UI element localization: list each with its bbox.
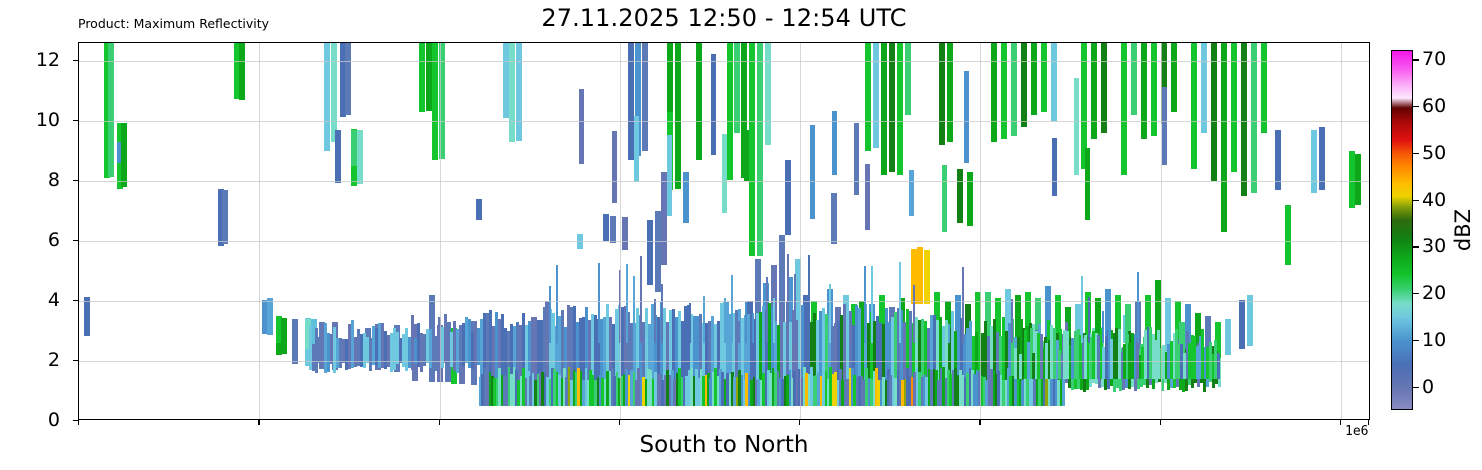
reflectivity-column [724, 298, 726, 343]
reflectivity-column [292, 319, 298, 364]
reflectivity-column [610, 216, 616, 243]
reflectivity-column [964, 71, 969, 163]
colorbar-segment [1392, 182, 1412, 197]
reflectivity-column [850, 314, 852, 343]
colorbar-segment [1392, 196, 1412, 206]
reflectivity-column [108, 43, 114, 177]
reflectivity-column [281, 318, 287, 354]
reflectivity-column [711, 54, 716, 154]
colorbar-segment [1392, 317, 1412, 341]
reflectivity-column [1311, 130, 1317, 193]
reflectivity-column [654, 299, 656, 343]
reflectivity-column [579, 89, 584, 164]
reflectivity-column [757, 43, 763, 256]
colorbar-segment [1392, 388, 1412, 410]
reflectivity-column [1031, 43, 1037, 115]
y-tick-label: 10 [36, 109, 60, 131]
reflectivity-column [612, 131, 617, 203]
colorbar-tick-mark [1413, 59, 1419, 60]
y-tick-mark [73, 360, 78, 361]
colorbar-segment [1392, 154, 1412, 169]
reflectivity-column [1141, 43, 1147, 139]
product-subtitle: Product: Maximum Reflectivity [78, 16, 269, 31]
reflectivity-column [957, 169, 963, 223]
reflectivity-column [345, 43, 351, 115]
y-tick-label: 0 [48, 409, 60, 431]
colorbar-segment [1392, 238, 1412, 257]
colorbar-gradient [1391, 50, 1413, 410]
y-tick-label: 6 [48, 229, 60, 251]
y-tick-mark [73, 120, 78, 121]
reflectivity-column [1247, 295, 1253, 346]
reflectivity-column [84, 297, 90, 336]
colorbar-segment [1392, 205, 1412, 220]
reflectivity-column [331, 43, 337, 142]
reflectivity-column [889, 43, 895, 172]
y-tick-mark [73, 420, 78, 421]
colorbar-tick-label: 40 [1422, 189, 1446, 211]
reflectivity-column [727, 43, 733, 180]
reflectivity-column [749, 43, 755, 256]
colorbar-segment [1392, 140, 1412, 155]
reflectivity-column [864, 266, 866, 343]
x-tick-mark [1340, 420, 1341, 425]
reflectivity-column [667, 135, 672, 216]
reflectivity-column [476, 199, 482, 220]
plot-area [78, 42, 1370, 420]
reflectivity-column [1102, 311, 1104, 343]
colorbar-tick-mark [1413, 387, 1419, 388]
reflectivity-column [419, 43, 425, 112]
reflectivity-column [1355, 154, 1361, 205]
reflectivity-column [934, 319, 936, 343]
reflectivity-column [1231, 43, 1237, 172]
reflectivity-column [1011, 43, 1017, 136]
reflectivity-column [1052, 138, 1057, 196]
colorbar-segment [1392, 275, 1412, 290]
reflectivity-column [1001, 43, 1007, 139]
reflectivity-column [1088, 297, 1090, 343]
y-tick-mark [73, 60, 78, 61]
reflectivity-column [439, 43, 445, 159]
x-tick-mark [799, 420, 800, 425]
reflectivity-column [854, 123, 859, 195]
reflectivity-column [752, 313, 754, 343]
reflectivity-column [696, 43, 702, 160]
reflectivity-column [1251, 43, 1257, 193]
x-tick-mark [619, 420, 620, 425]
reflectivity-column [675, 43, 681, 189]
reflectivity-column [1217, 353, 1220, 379]
reflectivity-column [881, 43, 887, 175]
colorbar-tick-label: 30 [1422, 235, 1446, 257]
reflectivity-column [722, 134, 727, 213]
y-tick-label: 8 [48, 169, 60, 191]
reflectivity-column [1011, 299, 1013, 343]
reflectivity-column [947, 43, 953, 142]
colorbar-segment [1392, 303, 1412, 318]
reflectivity-column [1239, 300, 1245, 350]
colorbar-segment [1392, 341, 1412, 365]
reflectivity-column [1151, 43, 1157, 136]
reflectivity-column [626, 264, 628, 343]
colorbar-tick-label: 50 [1422, 142, 1446, 164]
reflectivity-column [1285, 205, 1291, 265]
reflectivity-column [642, 43, 648, 151]
x-tick-mark [979, 420, 980, 425]
reflectivity-column [1261, 43, 1267, 133]
reflectivity-column [1211, 43, 1217, 181]
reflectivity-column [942, 165, 947, 232]
reflectivity-column [1021, 43, 1027, 127]
colorbar-tick-mark [1413, 153, 1419, 154]
colorbar-tick-label: 0 [1422, 376, 1434, 398]
colorbar-segment [1392, 98, 1412, 108]
colorbar-segment [1392, 168, 1412, 183]
reflectivity-column [1131, 43, 1137, 115]
reflectivity-column [917, 247, 923, 304]
reflectivity-column [766, 277, 768, 343]
reflectivity-column [324, 43, 330, 151]
reflectivity-column [865, 43, 871, 151]
y-axis-title: km AMSL [0, 178, 1, 284]
reflectivity-column [1074, 78, 1079, 176]
y-tick-mark [73, 180, 78, 181]
reflectivity-column [647, 220, 653, 285]
reflectivity-column [913, 285, 915, 343]
colorbar-tick-mark [1413, 340, 1419, 341]
reflectivity-column [734, 43, 740, 133]
reflectivity-column [810, 125, 815, 218]
reflectivity-column [703, 296, 705, 343]
reflectivity-column [1137, 272, 1139, 343]
radar-reflectivity-figure: { "figure": { "title": "27.11.2025 12:50… [0, 0, 1482, 470]
reflectivity-column [239, 43, 245, 100]
reflectivity-column [622, 217, 628, 250]
y-tick-label: 2 [48, 349, 60, 371]
colorbar-tick-mark [1413, 246, 1419, 247]
reflectivity-column [1085, 148, 1090, 220]
reflectivity-column [948, 324, 950, 343]
reflectivity-column [865, 164, 870, 230]
reflectivity-column [808, 255, 810, 343]
reflectivity-column [556, 265, 558, 343]
colorbar-segment [1392, 219, 1412, 238]
reflectivity-column [516, 43, 522, 141]
reflectivity-column [831, 193, 837, 244]
reflectivity-column [603, 214, 609, 241]
colorbar-segment [1392, 364, 1412, 388]
reflectivity-column [121, 123, 127, 188]
colorbar-segment [1392, 84, 1412, 99]
colorbar-segment [1392, 107, 1412, 122]
reflectivity-column [1201, 43, 1207, 133]
colorbar-tick-mark [1413, 200, 1419, 201]
reflectivity-column [432, 43, 438, 160]
reflectivity-column [1191, 43, 1197, 169]
reflectivity-column [829, 284, 831, 343]
reflectivity-column [267, 298, 273, 335]
reflectivity-column [640, 256, 642, 343]
x-tick-mark [1160, 420, 1161, 425]
reflectivity-column [1081, 276, 1083, 343]
reflectivity-column [1041, 43, 1047, 112]
reflectivity-column [909, 170, 914, 215]
reflectivity-column [924, 250, 930, 304]
reflectivity-column [899, 262, 901, 343]
reflectivity-column [683, 172, 689, 223]
reflectivity-column [509, 43, 515, 142]
reflectivity-column [598, 263, 600, 343]
reflectivity-column [689, 303, 691, 343]
reflectivity-column [1162, 87, 1167, 166]
reflectivity-column [1121, 43, 1127, 175]
reflectivity-column [738, 321, 740, 343]
colorbar-segment [1392, 257, 1412, 276]
colorbar-tick-mark [1413, 293, 1419, 294]
reflectivity-column [1275, 130, 1281, 190]
reflectivity-column [905, 43, 911, 115]
reflectivity-column [745, 302, 747, 343]
reflectivity-column [832, 111, 837, 175]
reflectivity-column [335, 130, 341, 183]
reflectivity-column [619, 270, 621, 343]
colorbar: 010203040506070 [1391, 50, 1413, 410]
reflectivity-column [634, 116, 639, 183]
reflectivity-column [897, 43, 903, 175]
reflectivity-column [765, 43, 771, 145]
reflectivity-column [222, 190, 228, 244]
x-axis-title: South to North [78, 432, 1370, 458]
reflectivity-column [731, 275, 733, 343]
reflectivity-column [1319, 127, 1325, 190]
chart-title: 27.11.2025 12:50 - 12:54 UTC [78, 4, 1370, 32]
reflectivity-column [1225, 319, 1231, 355]
reflectivity-column [939, 43, 945, 145]
colorbar-tick-label: 20 [1422, 282, 1446, 304]
reflectivity-column [1091, 43, 1097, 139]
y-tick-label: 12 [36, 49, 60, 71]
reflectivity-column [962, 267, 964, 343]
reflectivity-column [871, 266, 873, 343]
reflectivity-column [991, 43, 997, 142]
reflectivity-column [661, 284, 663, 343]
reflectivity-data-layer [79, 43, 1369, 419]
reflectivity-column [1171, 43, 1177, 112]
colorbar-tick-mark [1413, 106, 1419, 107]
reflectivity-column [633, 276, 635, 343]
reflectivity-column [873, 43, 879, 148]
y-tick-label: 4 [48, 289, 60, 311]
colorbar-title: dBZ [1451, 209, 1475, 251]
reflectivity-column [1241, 43, 1247, 196]
reflectivity-column [1101, 43, 1107, 133]
colorbar-tick-label: 10 [1422, 329, 1446, 351]
reflectivity-column [1221, 43, 1227, 232]
colorbar-segment [1392, 121, 1412, 140]
reflectivity-column [787, 254, 789, 343]
colorbar-segment [1392, 289, 1412, 304]
reflectivity-column [577, 234, 583, 249]
reflectivity-column [744, 130, 749, 181]
reflectivity-column [1123, 315, 1125, 343]
reflectivity-column [549, 286, 551, 343]
x-tick-mark [78, 420, 79, 425]
reflectivity-column [773, 298, 775, 343]
y-tick-mark [73, 300, 78, 301]
colorbar-tick-label: 70 [1422, 48, 1446, 70]
colorbar-tick-label: 60 [1422, 95, 1446, 117]
colorbar-segment [1392, 70, 1412, 85]
x-axis-offset-label: 1e6 [1345, 424, 1368, 439]
colorbar-segment [1392, 51, 1412, 70]
reflectivity-column [785, 160, 791, 235]
y-axis-labels: 024681012 [0, 0, 72, 470]
y-tick-mark [73, 240, 78, 241]
x-tick-mark [439, 420, 440, 425]
reflectivity-column [794, 274, 796, 343]
reflectivity-column [667, 43, 673, 112]
x-tick-mark [258, 420, 259, 425]
reflectivity-column [1051, 43, 1057, 121]
reflectivity-column [357, 130, 363, 184]
reflectivity-column [967, 172, 973, 226]
